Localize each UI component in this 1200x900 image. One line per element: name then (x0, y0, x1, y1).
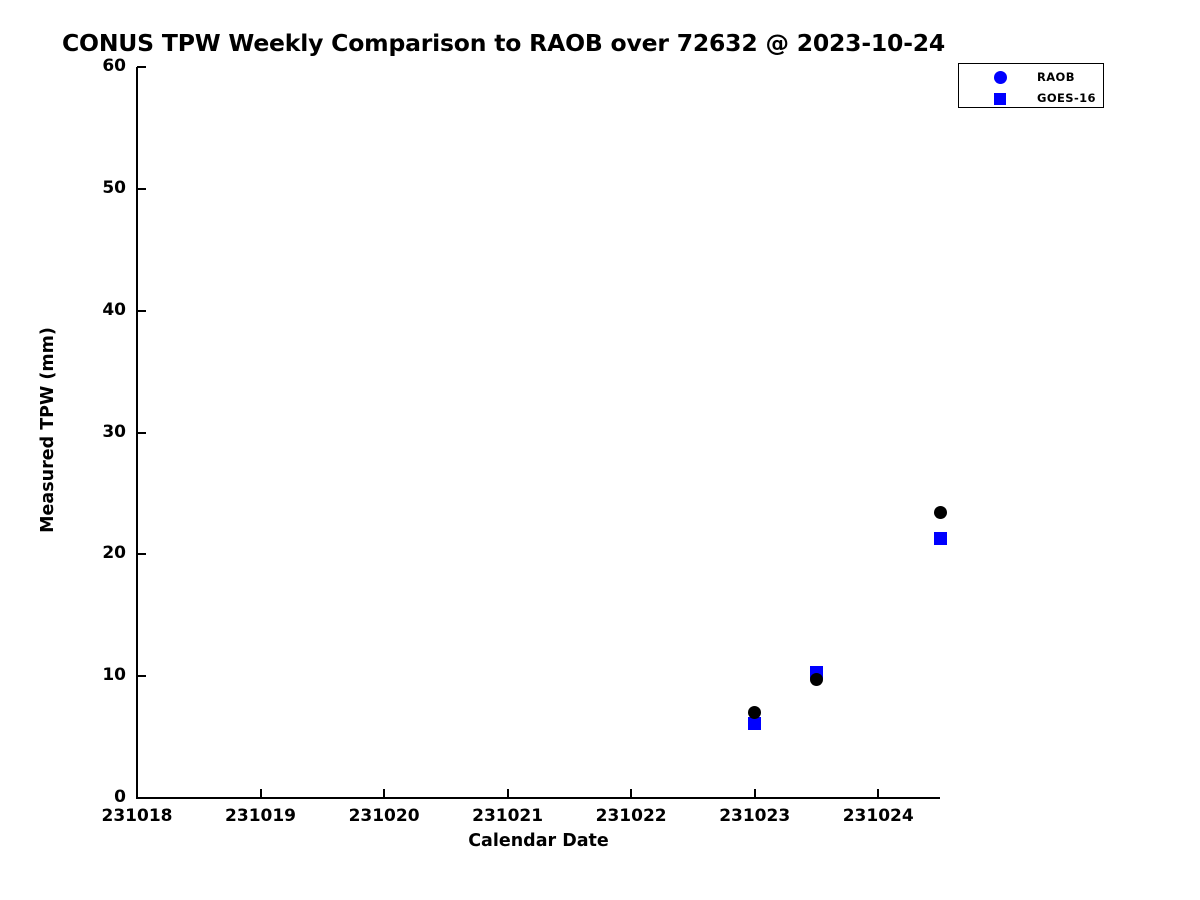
y-axis-label: Measured TPW (mm) (38, 230, 58, 630)
y-tick-label: 30 (16, 422, 126, 442)
y-tick-label: 10 (16, 665, 126, 685)
circle-marker-icon (991, 67, 1013, 87)
square-marker-icon (991, 88, 1013, 108)
x-tick-label: 231021 (443, 806, 573, 826)
x-tick-label: 231024 (813, 806, 943, 826)
chart-legend: RAOBGOES-16 (958, 63, 1104, 108)
legend-entry: GOES-16 (959, 88, 1103, 108)
plot-area (137, 67, 940, 798)
y-tick-label: 50 (16, 178, 126, 198)
x-tick-label: 231018 (72, 806, 202, 826)
x-tick-label: 231020 (319, 806, 449, 826)
legend-entry: RAOB (959, 67, 1103, 87)
legend-label: RAOB (1037, 70, 1075, 84)
legend-label: GOES-16 (1037, 91, 1096, 105)
chart-figure: CONUS TPW Weekly Comparison to RAOB over… (0, 0, 1200, 900)
y-tick-label: 60 (16, 56, 126, 76)
y-tick-label: 0 (16, 787, 126, 807)
y-tick-label: 20 (16, 543, 126, 563)
x-tick-label: 231019 (196, 806, 326, 826)
chart-title: CONUS TPW Weekly Comparison to RAOB over… (62, 29, 945, 57)
data-point-goes-16 (748, 717, 761, 730)
data-point-goes-16 (934, 532, 947, 545)
data-point-raob (810, 673, 823, 686)
x-tick-label: 231022 (566, 806, 696, 826)
y-tick-label: 40 (16, 300, 126, 320)
x-axis-label: Calendar Date (0, 831, 1079, 851)
x-tick-label: 231023 (690, 806, 820, 826)
data-point-raob (934, 506, 947, 519)
